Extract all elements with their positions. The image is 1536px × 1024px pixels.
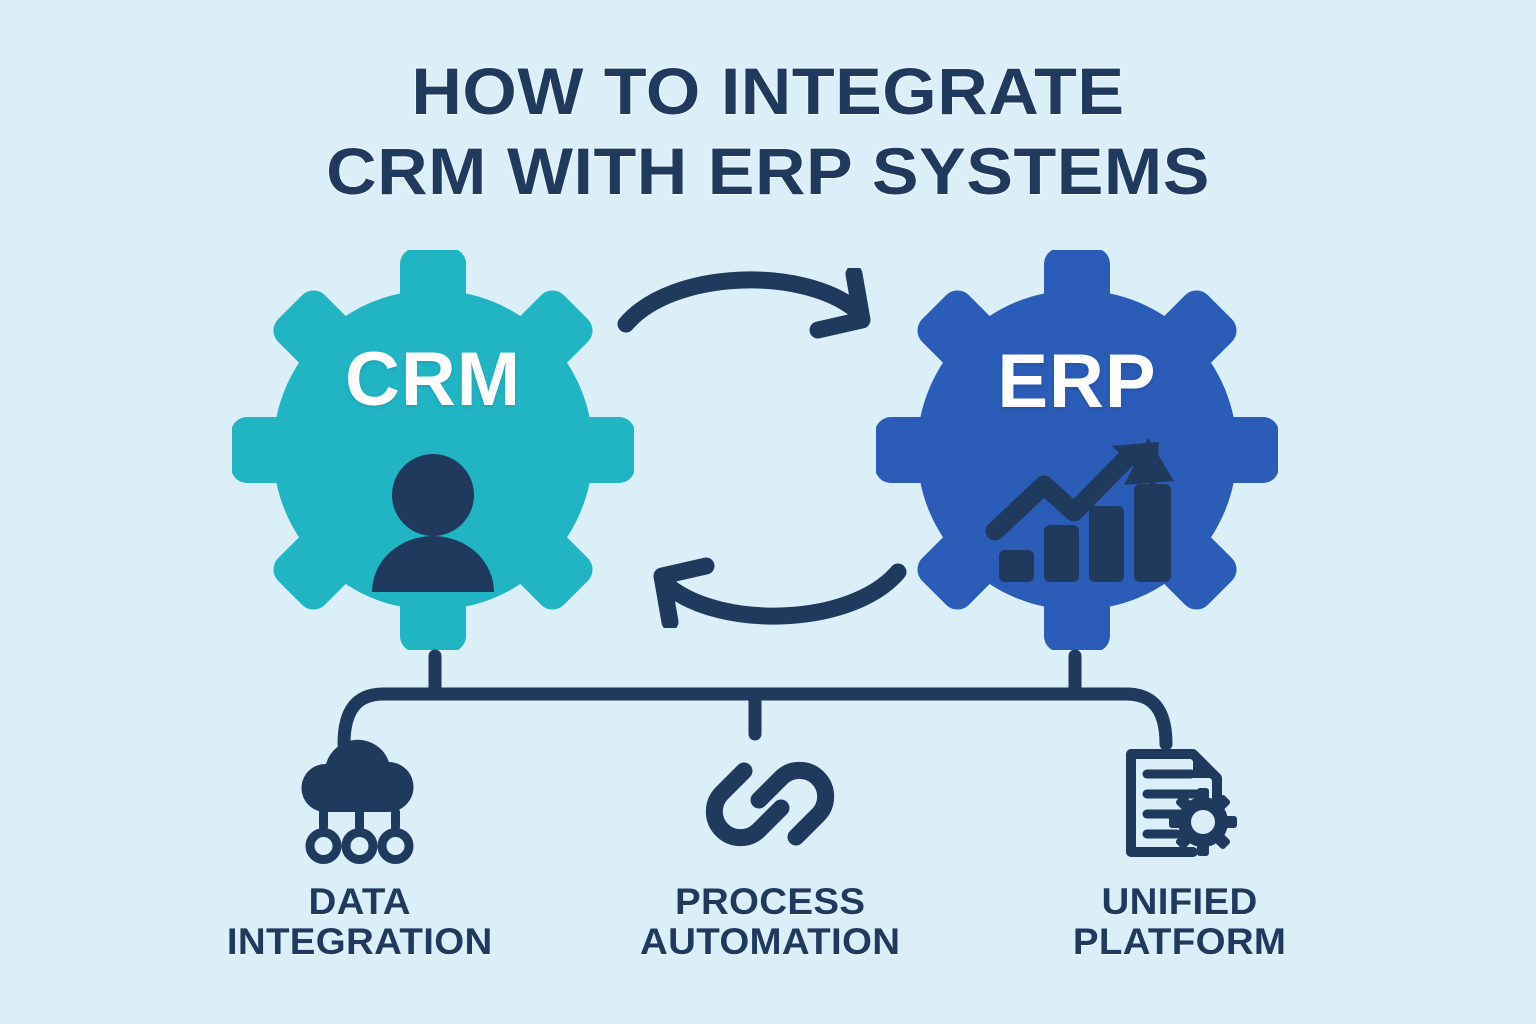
crm-node[interactable]: CRM	[232, 250, 634, 650]
chain-link-icon	[695, 738, 845, 870]
feature-label-line2: INTEGRATION	[227, 922, 493, 962]
feature-icon-wrap	[695, 738, 845, 870]
document-gear-icon	[1105, 738, 1255, 870]
erp-node[interactable]: ERP	[876, 250, 1278, 650]
feature-label-line2: AUTOMATION	[640, 922, 900, 962]
feature-label-unified-platform: UNIFIED PLATFORM	[1073, 882, 1286, 962]
document-fold	[1193, 754, 1217, 778]
feature-label-line1: PROCESS	[675, 881, 865, 922]
feature-data-integration[interactable]: DATA INTEGRATION	[180, 738, 540, 962]
diagram-stage: CRM	[0, 0, 1536, 1024]
feature-row: DATA INTEGRATION PROCESS AUTOMATIO	[180, 738, 1360, 988]
infographic-poster: HOW TO INTEGRATE CRM WITH ERP SYSTEMS	[0, 0, 1536, 1024]
feature-unified-platform[interactable]: UNIFIED PLATFORM	[1000, 738, 1360, 962]
erp-gear-icon	[876, 250, 1278, 650]
cloud-nodes-icon	[285, 738, 435, 870]
feature-icon-wrap	[1105, 738, 1255, 870]
sync-arrow-bottom	[668, 572, 898, 616]
feature-label-line1: UNIFIED	[1102, 881, 1258, 922]
sync-arrow-top	[626, 280, 856, 324]
feature-process-automation[interactable]: PROCESS AUTOMATION	[590, 738, 950, 962]
feature-label-line1: DATA	[309, 881, 411, 922]
feature-label-line2: PLATFORM	[1073, 922, 1286, 962]
bidirectional-sync-arrows	[612, 268, 912, 628]
feature-label-data-integration: DATA INTEGRATION	[227, 882, 493, 962]
crm-gear-icon	[232, 250, 634, 650]
feature-icon-wrap	[285, 738, 435, 870]
feature-label-process-automation: PROCESS AUTOMATION	[640, 882, 900, 962]
